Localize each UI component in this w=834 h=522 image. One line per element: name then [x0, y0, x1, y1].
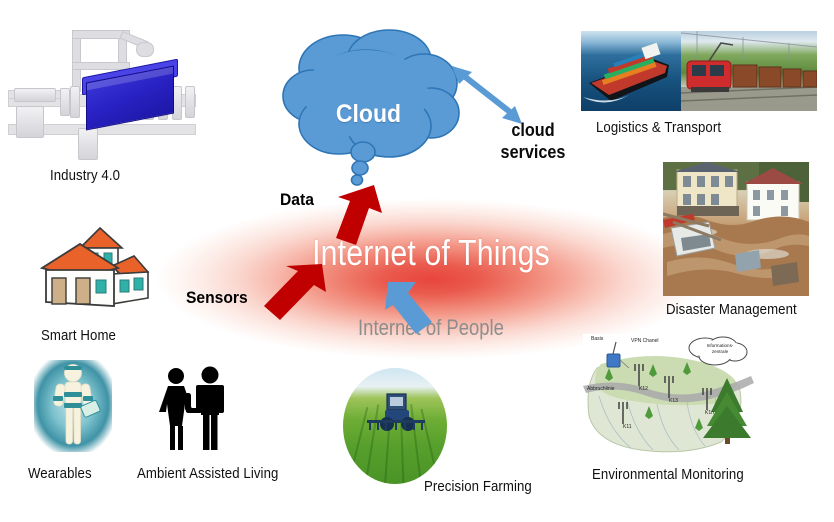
- smart-home-image: [34, 222, 152, 312]
- disaster-image: [663, 162, 809, 296]
- env-center-label-1: Informations-: [707, 343, 734, 348]
- cloud-services-line2: services: [501, 142, 566, 162]
- environment-label: Environmental Monitoring: [592, 467, 744, 484]
- logistics-train-image: [681, 31, 817, 111]
- industry-image: [8, 28, 194, 160]
- people-arrow: [382, 276, 438, 338]
- aal-label: Ambient Assisted Living: [137, 466, 278, 483]
- logistics-label: Logistics & Transport: [596, 120, 721, 137]
- env-center-label-2: zentrale: [712, 349, 728, 354]
- env-node-k13: K13: [669, 398, 678, 404]
- env-node-k12: K12: [639, 386, 648, 392]
- environment-image: Basis VPN Chanel Informations- zentrale …: [583, 334, 755, 460]
- sensors-label: Sensors: [186, 288, 248, 308]
- sensors-arrow: [260, 262, 334, 328]
- smart-home-label: Smart Home: [41, 328, 116, 345]
- env-basis-label: Basis: [591, 336, 603, 342]
- env-node-k1n: K1n: [705, 410, 714, 416]
- aal-image: [152, 366, 236, 452]
- farming-image: [343, 368, 447, 484]
- cloud-services-label: cloud services: [484, 120, 583, 164]
- disaster-label: Disaster Management: [666, 302, 797, 319]
- cloud-services-arrow: [450, 62, 526, 128]
- logistics-ship-image: [581, 31, 681, 111]
- wearables-image: [34, 360, 112, 452]
- cloud-services-line1: cloud: [511, 120, 554, 140]
- env-node-k11: K11: [623, 424, 632, 430]
- farming-label: Precision Farming: [424, 479, 532, 496]
- cloud-bubble: Cloud: [281, 28, 471, 196]
- iot-overview-diagram: Internet of Things Internet of People Se…: [0, 0, 834, 522]
- env-vpn-label: VPN Chanel: [631, 338, 659, 344]
- industry-label: Industry 4.0: [50, 168, 120, 185]
- wearables-label: Wearables: [28, 466, 92, 483]
- env-breakline-label: Abbruchlinie: [587, 386, 615, 392]
